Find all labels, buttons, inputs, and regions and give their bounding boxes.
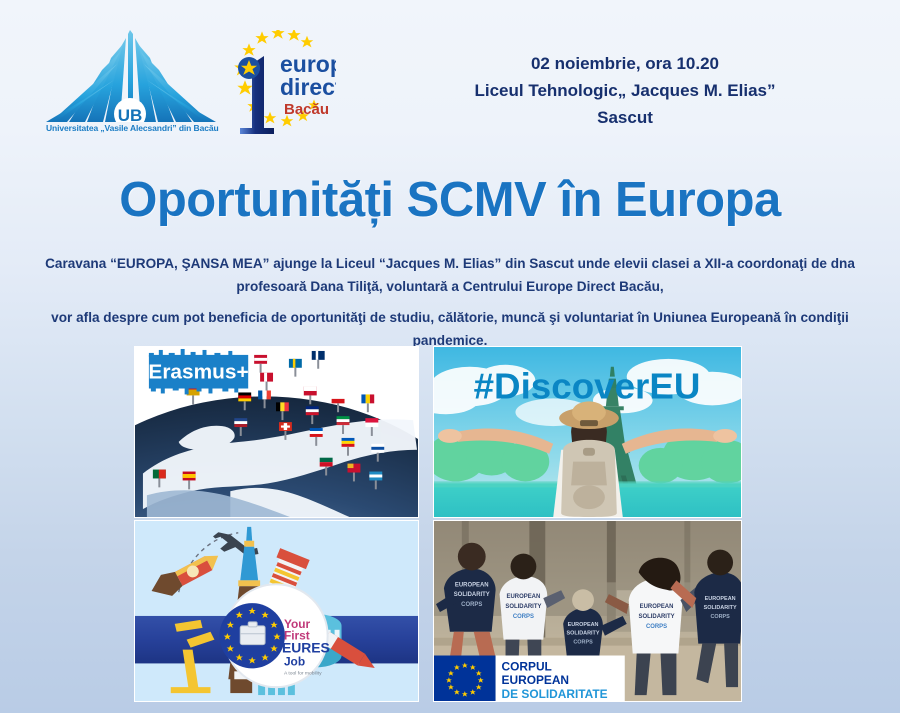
svg-text:SOLIDARITY: SOLIDARITY xyxy=(567,631,600,637)
poster-header: UB Universitatea „Vasile Alecsandri” din… xyxy=(0,0,900,160)
svg-text:CORPS: CORPS xyxy=(513,614,534,620)
svg-text:SOLIDARITY: SOLIDARITY xyxy=(704,605,737,611)
svg-text:A tool for mobility: A tool for mobility xyxy=(284,670,322,676)
image-european-solidarity-corps: EUROPEAN SOLIDARITY CORPS EUROPEAN xyxy=(433,520,742,702)
university-logo-caption: Universitatea „Vasile Alecsandri” din Ba… xyxy=(46,123,216,133)
svg-text:SOLIDARITY: SOLIDARITY xyxy=(505,604,541,610)
image-erasmus-plus: Erasmus+ Erasmus+ logo over 3D map of Eu… xyxy=(134,346,419,518)
svg-text:Erasmus+: Erasmus+ xyxy=(148,361,248,384)
svg-text:EUROPEAN: EUROPEAN xyxy=(507,594,541,600)
svg-text:EUROPEAN: EUROPEAN xyxy=(455,582,489,588)
image-your-first-eures-job: Your First EURES Job A tool for mobility… xyxy=(134,520,419,702)
image-discover-eu: #DiscoverEU Traveller with backpack and … xyxy=(433,346,742,518)
university-logo: UB Universitatea „Vasile Alecsandri” din… xyxy=(46,26,216,141)
europe-direct-logo: europe direct Bacău xyxy=(218,30,336,138)
svg-text:Bacău: Bacău xyxy=(284,101,329,118)
svg-text:EUROPEAN: EUROPEAN xyxy=(502,673,569,687)
svg-text:EUROPEAN: EUROPEAN xyxy=(705,596,736,602)
svg-text:SOLIDARITY: SOLIDARITY xyxy=(639,614,675,620)
svg-text:CORPS: CORPS xyxy=(461,602,482,608)
image-grid: Erasmus+ Erasmus+ logo over 3D map of Eu… xyxy=(134,346,742,702)
event-date-time: 02 noiembrie, ora 10.20 xyxy=(380,50,870,77)
corpul-european-logo: CORPUL EUROPEAN DE SOLIDARITATE xyxy=(434,656,625,701)
svg-text:Job: Job xyxy=(284,654,305,668)
description-paragraph-1: Caravana “EUROPA, ŞANSA MEA” ajunge la L… xyxy=(45,252,855,298)
page-title: Oportunități SCMV în Europa xyxy=(0,172,900,228)
discover-eu-wordmark: #DiscoverEU xyxy=(474,365,701,406)
svg-text:direct: direct xyxy=(280,74,336,100)
event-venue: Liceul Tehnologic„ Jacques M. Elias” xyxy=(380,77,870,104)
erasmus-wordmark: Erasmus+ xyxy=(148,349,248,394)
svg-text:UB: UB xyxy=(118,106,143,122)
svg-text:CORPS: CORPS xyxy=(710,614,730,620)
svg-text:CORPS: CORPS xyxy=(646,624,667,630)
svg-text:EURES: EURES xyxy=(282,640,330,656)
event-details: 02 noiembrie, ora 10.20 Liceul Tehnologi… xyxy=(380,50,870,131)
ub-fan-icon: UB xyxy=(46,30,216,122)
svg-text:DE SOLIDARITATE: DE SOLIDARITATE xyxy=(502,687,608,701)
svg-text:CORPUL: CORPUL xyxy=(502,659,552,673)
description-block: Caravana “EUROPA, ŞANSA MEA” ajunge la L… xyxy=(45,252,855,352)
svg-text:EUROPEAN: EUROPEAN xyxy=(640,604,674,610)
svg-text:#DiscoverEU: #DiscoverEU xyxy=(474,365,701,406)
svg-text:CORPS: CORPS xyxy=(573,640,593,646)
svg-text:EUROPEAN: EUROPEAN xyxy=(568,622,599,628)
event-locality: Sascut xyxy=(380,104,870,131)
poster-canvas: UB Universitatea „Vasile Alecsandri” din… xyxy=(0,0,900,713)
svg-text:SOLIDARITY: SOLIDARITY xyxy=(454,592,490,598)
